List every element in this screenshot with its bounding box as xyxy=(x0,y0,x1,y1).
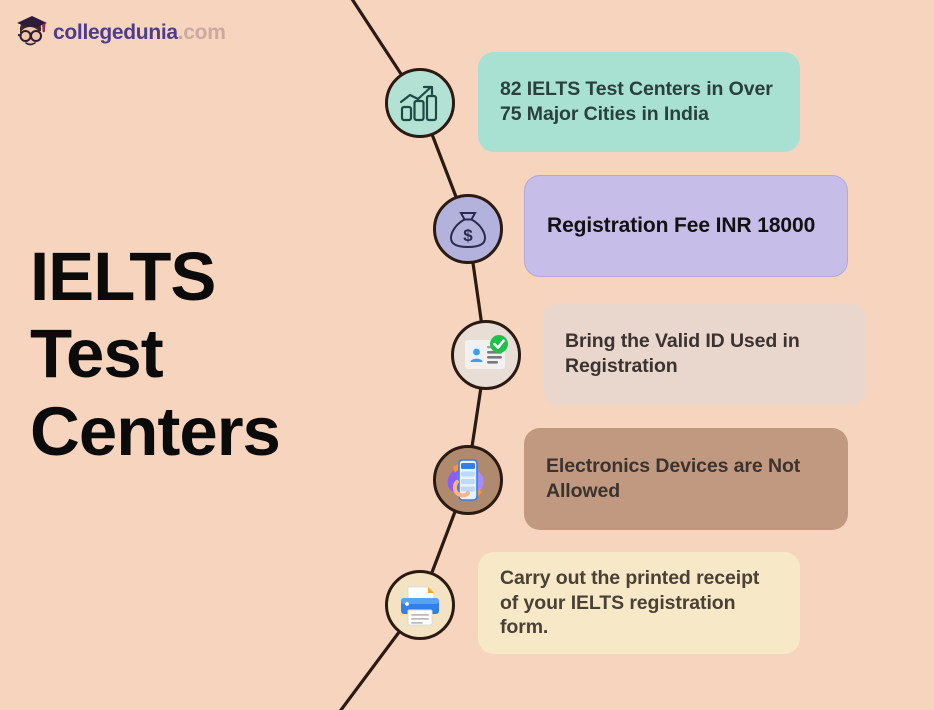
timeline-node-2[interactable]: $ xyxy=(433,194,503,264)
timeline-card-2[interactable]: Registration Fee INR 18000 xyxy=(524,175,848,277)
page-title-line-3: Centers xyxy=(30,393,360,470)
timeline-card-4-text: Electronics Devices are Not Allowed xyxy=(546,454,826,504)
timeline-node-4[interactable] xyxy=(433,445,503,515)
page-title-line-1: IELTS xyxy=(30,238,360,315)
infographic-canvas: collegedunia.com IELTS Test Centers xyxy=(0,0,934,710)
timeline-node-3[interactable] xyxy=(451,320,521,390)
timeline-card-2-text: Registration Fee INR 18000 xyxy=(547,213,815,240)
timeline-card-5-text: Carry out the printed receipt of your IE… xyxy=(500,566,778,641)
svg-text:$: $ xyxy=(463,226,473,245)
money-bag-dollar-icon: $ xyxy=(447,207,489,251)
collegedunia-logo[interactable]: collegedunia.com xyxy=(12,12,226,52)
mobile-phone-in-hand-icon xyxy=(441,454,495,506)
bar-chart-growth-icon xyxy=(398,83,442,123)
timeline-card-1[interactable]: 82 IELTS Test Centers in Over 75 Major C… xyxy=(478,52,800,152)
timeline-node-1[interactable] xyxy=(385,68,455,138)
timeline-card-3[interactable]: Bring the Valid ID Used in Registration xyxy=(543,303,866,405)
id-card-verified-icon xyxy=(462,335,510,375)
timeline-card-5[interactable]: Carry out the printed receipt of your IE… xyxy=(478,552,800,654)
timeline-node-5[interactable] xyxy=(385,570,455,640)
brand-tld: .com xyxy=(178,21,226,44)
brand-name: collegedunia.com xyxy=(53,22,226,43)
page-title: IELTS Test Centers xyxy=(30,238,360,470)
timeline-card-4[interactable]: Electronics Devices are Not Allowed xyxy=(524,428,848,530)
page-title-line-2: Test xyxy=(30,315,360,392)
timeline-card-1-text: 82 IELTS Test Centers in Over 75 Major C… xyxy=(500,77,778,127)
graduation-cap-mascot-icon xyxy=(12,12,52,52)
printer-icon xyxy=(396,583,444,627)
timeline-card-3-text: Bring the Valid ID Used in Registration xyxy=(565,329,844,379)
